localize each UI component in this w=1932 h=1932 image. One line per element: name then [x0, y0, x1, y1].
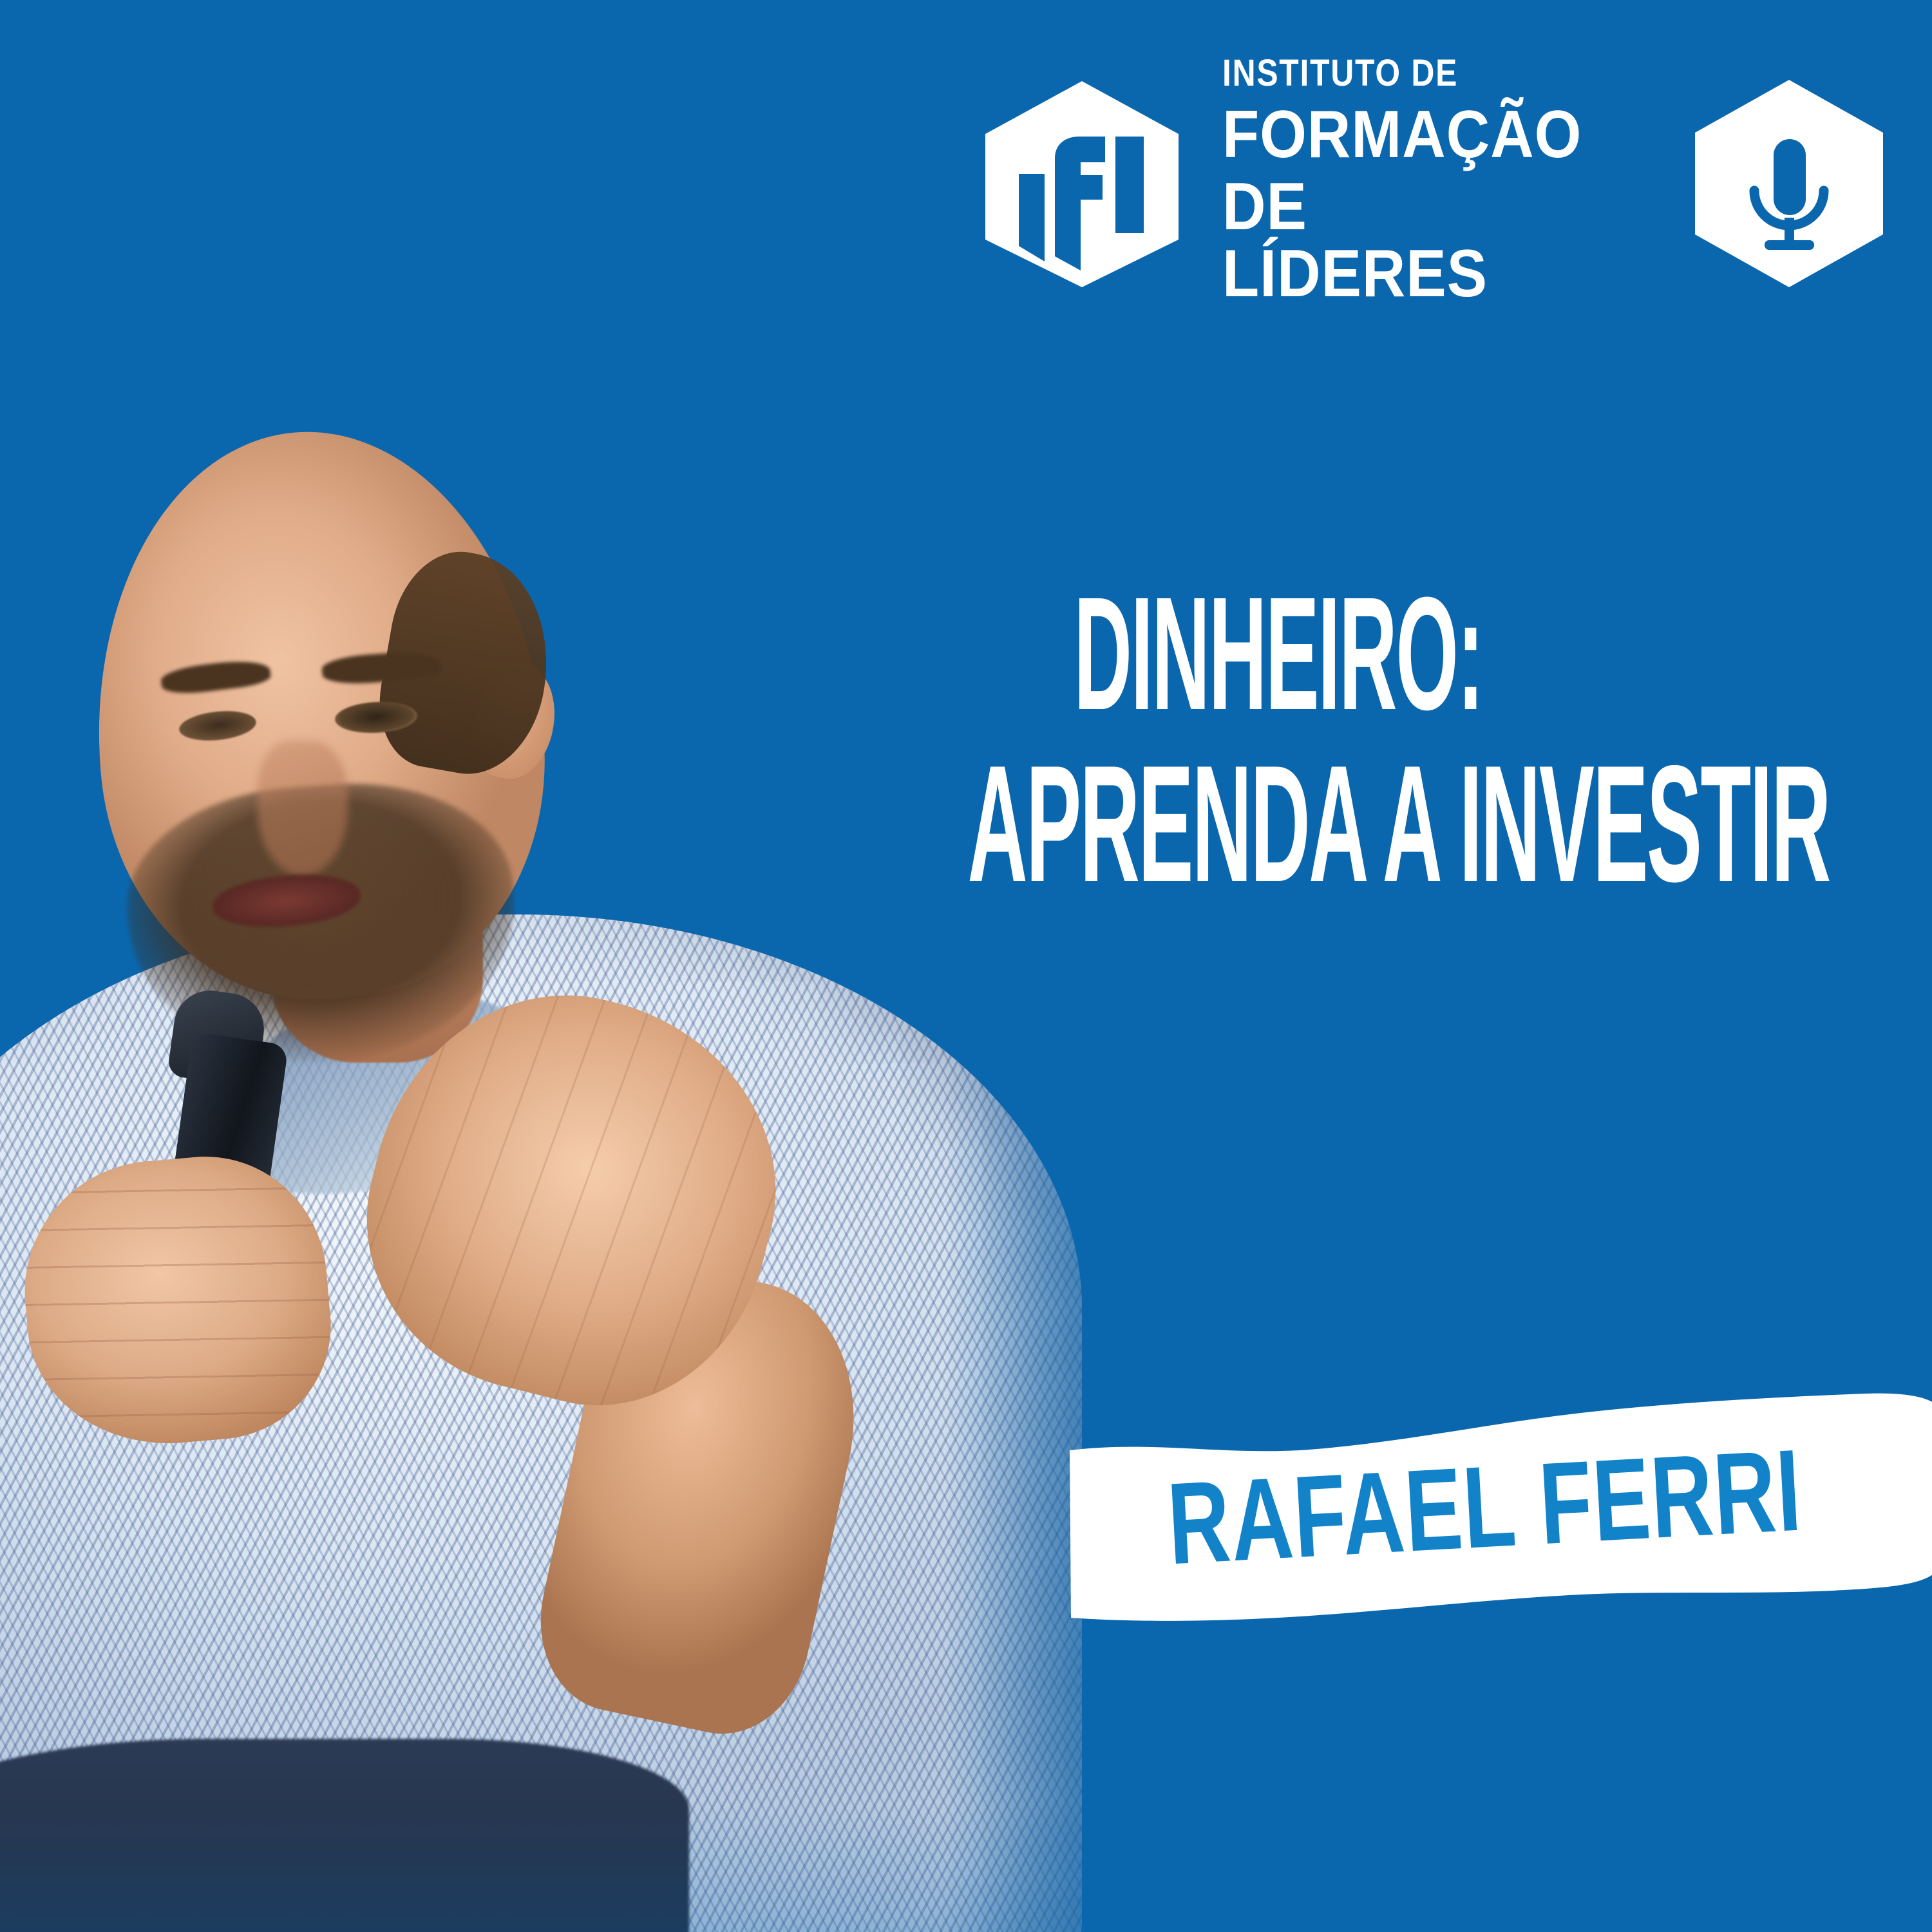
ifl-hexagon-logo-icon	[979, 77, 1185, 290]
title-line-2: APRENDA A INVESTIR	[968, 747, 1589, 900]
photo-bottom-fade	[0, 1806, 1172, 1932]
speaker-name-label: RAFAEL FERRI	[1164, 1423, 1805, 1591]
brand-line-instituto: INSTITUTO DE	[1222, 55, 1566, 92]
microphone-icon	[1692, 77, 1886, 290]
brand-line-formacao: FORMAÇÃO	[1222, 101, 1582, 168]
poster-title: DINHEIRO: APRENDA A INVESTIR	[657, 580, 1900, 900]
brand-header: INSTITUTO DE FORMAÇÃO DE LÍDERES	[979, 71, 1855, 296]
speaker-nose	[258, 741, 348, 876]
title-line-1: DINHEIRO:	[968, 580, 1589, 728]
speaker-name: RAFAEL FERRI	[1059, 1356, 1909, 1658]
speaker-name-banner: RAFAEL FERRI	[1066, 1378, 1932, 1636]
brand-wordmark: INSTITUTO DE FORMAÇÃO DE LÍDERES	[1222, 55, 1622, 312]
brand-line-lideres: DE LÍDERES	[1222, 173, 1582, 307]
podcast-cover-poster: INSTITUTO DE FORMAÇÃO DE LÍDERES DINHEIR…	[0, 0, 1932, 1932]
